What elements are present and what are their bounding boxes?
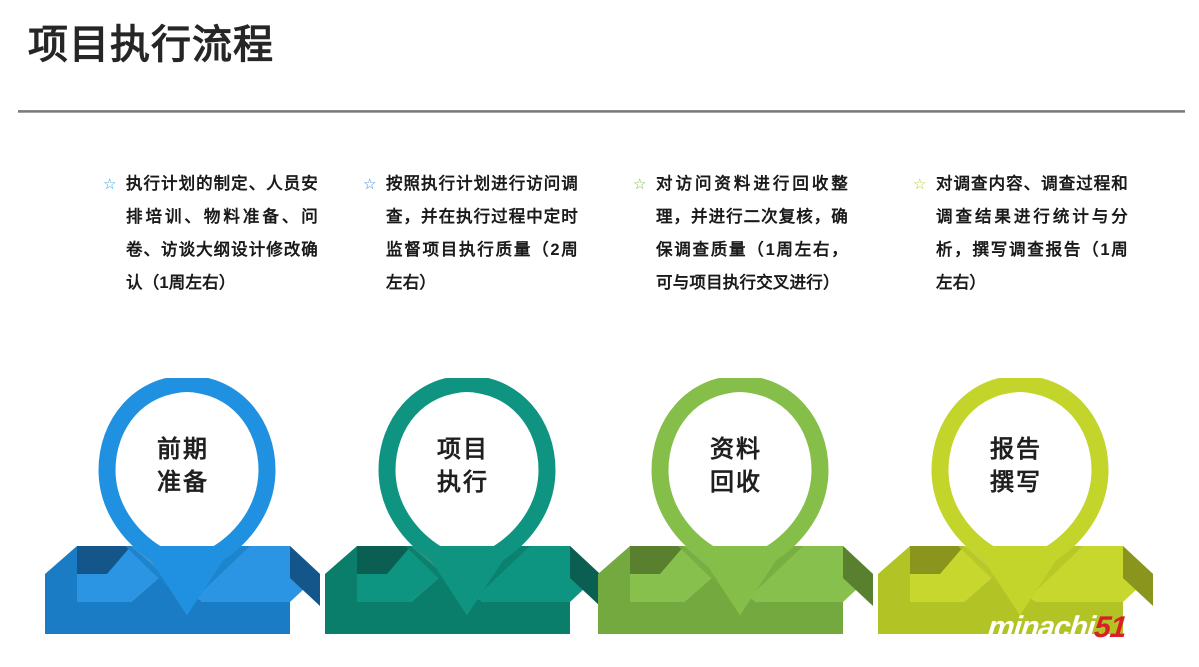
hollow-star-icon: ☆ (913, 168, 927, 201)
pin-inner-disc (404, 392, 530, 548)
pin-inner-disc (957, 392, 1083, 548)
hollow-star-icon: ☆ (363, 168, 377, 201)
pin-inner-disc (677, 392, 803, 548)
watermark: minachi51 (986, 612, 1127, 644)
watermark-accent: 51 (1093, 611, 1128, 644)
description-text-3: 对访问资料进行回收整理，并进行二次复核，确保调查质量（1周左右，可与项目执行交叉… (656, 175, 848, 292)
description-text-wrapper-4: ☆对调查内容、调查过程和调查结果进行统计与分析，撰写调查报告（1周左右） (913, 168, 1128, 300)
description-text-4: 对调查内容、调查过程和调查结果进行统计与分析，撰写调查报告（1周左右） (936, 175, 1128, 292)
description-row: ☆执行计划的制定、人员安排培训、物料准备、问卷、访谈大纲设计修改确认（1周左右）… (0, 168, 1199, 358)
stage-1-graphic (45, 378, 335, 646)
description-text-1: 执行计划的制定、人员安排培训、物料准备、问卷、访谈大纲设计修改确认（1周左右） (126, 175, 318, 292)
description-text-wrapper-2: ☆按照执行计划进行访问调查，并在执行过程中定时监督项目执行质量（2周左右） (363, 168, 578, 300)
stage-4-graphic (878, 378, 1168, 646)
stage-2[interactable]: 项目 执行 (325, 378, 615, 646)
hollow-star-icon: ☆ (633, 168, 647, 201)
stage-1[interactable]: 前期 准备 (45, 378, 335, 646)
description-text-2: 按照执行计划进行访问调查，并在执行过程中定时监督项目执行质量（2周左右） (386, 175, 578, 292)
pin-inner-disc (124, 392, 250, 548)
stage-4[interactable]: 报告 撰写 (878, 378, 1168, 646)
description-block-3: ☆对访问资料进行回收整理，并进行二次复核，确保调查质量（1周左右，可与项目执行交… (633, 168, 848, 300)
description-block-2: ☆按照执行计划进行访问调查，并在执行过程中定时监督项目执行质量（2周左右） (363, 168, 578, 300)
description-block-4: ☆对调查内容、调查过程和调查结果进行统计与分析，撰写调查报告（1周左右） (913, 168, 1128, 300)
stage-3-graphic (598, 378, 888, 646)
description-text-wrapper-3: ☆对访问资料进行回收整理，并进行二次复核，确保调查质量（1周左右，可与项目执行交… (633, 168, 848, 300)
description-text-wrapper-1: ☆执行计划的制定、人员安排培训、物料准备、问卷、访谈大纲设计修改确认（1周左右） (103, 168, 318, 300)
stage-3[interactable]: 资料 回收 (598, 378, 888, 646)
title-divider (18, 110, 1185, 113)
slide-canvas: 项目执行流程 ☆执行计划的制定、人员安排培训、物料准备、问卷、访谈大纲设计修改确… (0, 0, 1199, 667)
stage-row: 前期 准备 项目 执行 (0, 378, 1199, 648)
watermark-primary: minachi (986, 611, 1096, 644)
description-block-1: ☆执行计划的制定、人员安排培训、物料准备、问卷、访谈大纲设计修改确认（1周左右） (103, 168, 318, 300)
stage-2-graphic (325, 378, 615, 646)
page-title: 项目执行流程 (28, 22, 274, 68)
hollow-star-icon: ☆ (103, 168, 117, 201)
